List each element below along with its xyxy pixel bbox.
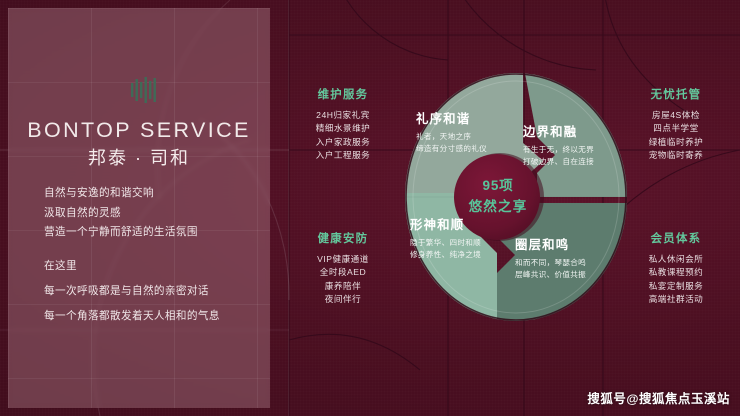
quadrant-title: 礼序和谐 [416, 109, 487, 127]
slide-canvas: BONTOP SERVICE 邦泰 · 司和 自然与安逸的和谐交响 汲取自然的灵… [0, 0, 740, 416]
tagline-line-5: 每一次呼吸都是与自然的亲密对话 [44, 279, 258, 304]
quadrant-subtitle-2: 打破边界、自在连接 [523, 156, 594, 168]
tagline-line-3: 营造一个宁静而舒适的生活氛围 [44, 223, 258, 243]
category-item: 四点半学堂 [622, 122, 730, 135]
category-item: VIP健康通道 [297, 253, 389, 266]
quadrant-subtitle-1: 有生于无，终以无界 [523, 144, 594, 156]
tagline-line-6: 每一个角落都散发着天人相和的气息 [44, 304, 258, 329]
quadrant-subtitle-1: 隐于繁华、四时和顺 [410, 237, 481, 249]
tagline-line-2: 汲取自然的灵感 [44, 204, 258, 224]
category-item: 宠物临时寄养 [622, 149, 730, 162]
vertical-bars-logo-icon [130, 77, 160, 103]
page-subtitle: 邦泰 · 司和 [8, 144, 270, 170]
quadrant-label-form: 形神和顺 隐于繁华、四时和顺 修身养性、纯净之境 [410, 215, 481, 260]
category-health: 健康安防 VIP健康通道 全时段AED 康养陪伴 夜间伴行 [297, 230, 389, 307]
quadrant-title: 圈层和鸣 [515, 235, 586, 253]
category-item: 高端社群活动 [622, 293, 730, 306]
category-item: 私宴定制服务 [622, 280, 730, 293]
category-title: 健康安防 [297, 230, 389, 246]
category-title: 会员体系 [622, 230, 730, 246]
category-item: 房屋4S体检 [622, 109, 730, 122]
category-hosting: 无忧托管 房屋4S体检 四点半学堂 绿植临时养护 宠物临时寄养 [622, 86, 730, 163]
brand-panel: BONTOP SERVICE 邦泰 · 司和 自然与安逸的和谐交响 汲取自然的灵… [8, 8, 270, 408]
quadrant-label-ritual: 礼序和谐 礼者，天地之序 缔造有分寸感的礼仪 [416, 109, 487, 154]
category-item: 夜间伴行 [297, 293, 389, 306]
quadrant-subtitle-1: 礼者，天地之序 [416, 131, 487, 143]
quadrant-title: 边界和融 [523, 122, 594, 140]
page-title: BONTOP SERVICE [8, 118, 270, 143]
category-item: 24H归家礼宾 [297, 109, 389, 122]
quadrant-subtitle-2: 层峰共识、价值共振 [515, 269, 586, 281]
category-item: 入户家政服务 [297, 136, 389, 149]
category-title: 维护服务 [297, 86, 389, 102]
category-item: 私人休闲会所 [622, 253, 730, 266]
tagline-line-4: 在这里 [44, 254, 258, 279]
quadrant-subtitle-1: 和而不同，琴瑟合鸣 [515, 257, 586, 269]
quadrant-label-boundary: 边界和融 有生于无，终以无界 打破边界、自在连接 [523, 122, 594, 167]
quadrant-subtitle-2: 修身养性、纯净之境 [410, 249, 481, 261]
category-item: 康养陪伴 [297, 280, 389, 293]
vertical-divider [288, 0, 289, 416]
category-item: 私教课程预约 [622, 266, 730, 279]
category-membership: 会员体系 私人休闲会所 私教课程预约 私宴定制服务 高端社群活动 [622, 230, 730, 307]
category-item: 精细水景维护 [297, 122, 389, 135]
category-maintenance: 维护服务 24H归家礼宾 精细水景维护 入户家政服务 入户工程服务 [297, 86, 389, 163]
category-item: 入户工程服务 [297, 149, 389, 162]
tagline-line-1: 自然与安逸的和谐交响 [44, 184, 258, 204]
category-item: 全时段AED [297, 266, 389, 279]
category-item: 绿植临时养护 [622, 136, 730, 149]
quadrant-label-circle: 圈层和鸣 和而不同，琴瑟合鸣 层峰共识、价值共振 [515, 235, 586, 280]
quadrant-title: 形神和顺 [410, 215, 481, 233]
pinwheel-diagram: 礼序和谐 礼者，天地之序 缔造有分寸感的礼仪 边界和融 有生于无，终以无界 打破… [405, 73, 627, 321]
category-title: 无忧托管 [622, 86, 730, 102]
watermark: 搜狐号@搜狐焦点玉溪站 [587, 389, 730, 407]
tagline-block: 自然与安逸的和谐交响 汲取自然的灵感 营造一个宁静而舒适的生活氛围 在这里 每一… [44, 184, 258, 329]
quadrant-subtitle-2: 缔造有分寸感的礼仪 [416, 143, 487, 155]
